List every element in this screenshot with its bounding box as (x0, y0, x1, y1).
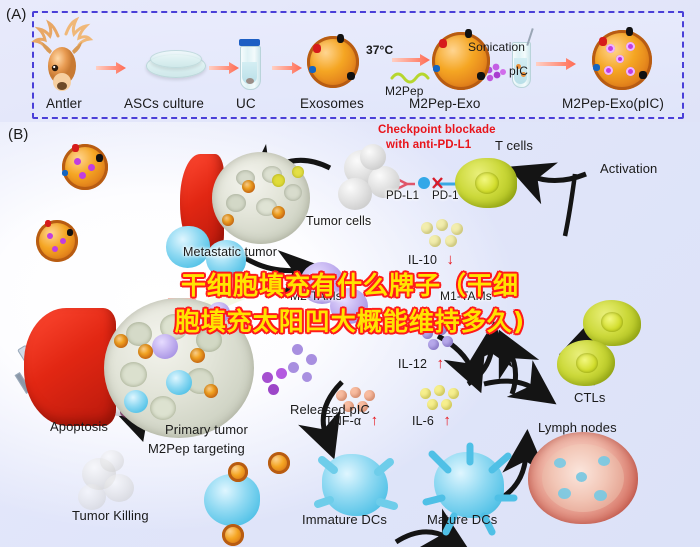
step-label-ascs-culture: ASCs culture (124, 96, 204, 111)
figure-root: (A) (0, 0, 700, 547)
il-6-label: IL-6 (412, 414, 434, 428)
cytokine-tnf-alpha: TNF-α ↑ (325, 412, 378, 430)
petri-dish-lid-icon (150, 50, 202, 68)
step-label-uc: UC (236, 96, 256, 111)
label-m2-tams: M2-TAMs (290, 289, 342, 303)
label-m2pep-targeting: M2Pep targeting (148, 441, 245, 456)
step-label-m2pep-exo: M2Pep-Exo (409, 96, 480, 111)
label-m1-tams: M1-TAMs (440, 289, 492, 303)
label-tumor-cells: Tumor cells (306, 214, 371, 228)
label-ctls: CTLs (574, 390, 605, 405)
mature-dc-icon (434, 452, 504, 518)
step-label-m2pep-exo-pic: M2Pep-Exo(pIC) (562, 96, 664, 111)
ctl-cell-icon-2 (557, 340, 615, 386)
exosome-icon (307, 36, 359, 88)
label-activation: Activation (600, 161, 657, 176)
pic-label: pIC (509, 64, 528, 78)
ctl-cell-icon-1 (583, 300, 641, 346)
free-exosome-icon-1 (62, 144, 108, 190)
immature-dc-icon (322, 454, 388, 516)
temperature-label: 37°C (366, 43, 393, 57)
il-12-arrow: ↑ (436, 355, 444, 372)
cytokine-il-10: IL-10 ↓ (408, 251, 454, 269)
label-pd-l1: PD-L1 (386, 190, 419, 202)
free-exosome-icon-2 (36, 220, 78, 262)
label-checkpoint-blockade-line1: Checkpoint blockade (378, 124, 496, 136)
label-primary-tumor: Primary tumor (165, 422, 248, 437)
label-mature-dcs: Mature DCs (427, 512, 497, 527)
loaded-exosome-icon (592, 30, 652, 90)
label-lymph-nodes: Lymph nodes (538, 420, 617, 435)
label-t-cells: T cells (495, 138, 533, 153)
cytokine-il-12: IL-12 ↑ (398, 355, 444, 373)
il-10-arrow: ↓ (446, 251, 454, 268)
tnf-alpha-label: TNF-α (325, 414, 361, 428)
panel-b: Metastatic tumor Tumor cells Checkpoint … (0, 122, 700, 547)
label-tumor-killing: Tumor Killing (72, 508, 149, 523)
t-cell-icon (455, 158, 517, 208)
sonication-label: Sonication (468, 40, 525, 54)
il-12-label: IL-12 (398, 357, 427, 371)
cytokine-il-6: IL-6 ↑ (412, 412, 451, 430)
panel-a: (A) (0, 0, 700, 122)
label-pd-1: PD-1 (432, 190, 459, 202)
il-10-label: IL-10 (408, 253, 437, 267)
step-label-exosomes: Exosomes (300, 96, 364, 111)
lymph-node-icon (528, 432, 638, 524)
label-apoptosis: Apoptosis (50, 419, 108, 434)
step-label-antler: Antler (46, 96, 82, 111)
il-6-arrow: ↑ (443, 412, 451, 429)
label-checkpoint-blockade-line2: with anti-PD-L1 (386, 139, 471, 151)
panel-b-tag: (B) (8, 126, 29, 143)
tnf-alpha-arrow: ↑ (371, 412, 379, 429)
panel-a-tag: (A) (6, 6, 27, 23)
label-metastatic-tumor: Metastatic tumor (183, 245, 277, 259)
label-immature-dcs: Immature DCs (302, 512, 387, 527)
